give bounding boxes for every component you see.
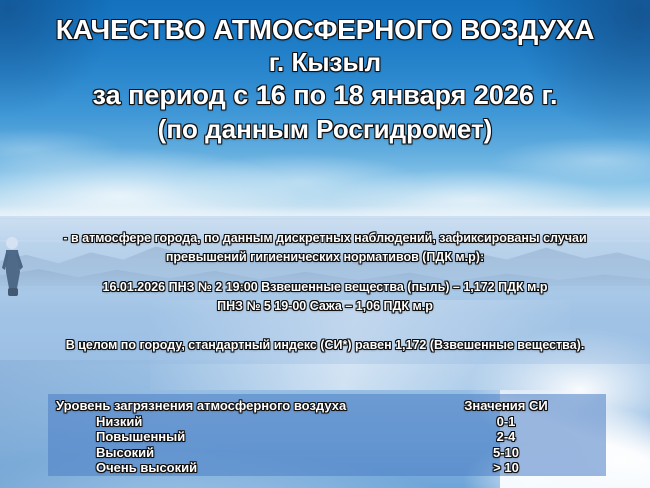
table-row-value-high: 5-10 [422,445,606,461]
table-row-level-high: Высокий [48,445,422,461]
measurement-line-2: ПНЗ № 5 19-00 Сажа – 1,06 ПДК м.р [0,297,650,316]
table-row: Высокий 5-10 [48,445,606,461]
table-header-value: Значения СИ [422,394,606,414]
table-row-level-elevated: Повышенный [48,429,422,445]
poster-title-block: КАЧЕСТВО АТМОСФЕРНОГО ВОЗДУХА г. Кызыл з… [0,0,650,212]
poster-title-line-2-city: г. Кызыл [0,46,650,78]
table-header-level: Уровень загрязнения атмосферного воздуха [48,394,422,414]
text-spacer [0,267,650,278]
table-row-level-very-high: Очень высокий [48,460,422,476]
table-header-row: Уровень загрязнения атмосферного воздуха… [48,394,606,414]
standard-index-summary: В целом по городу, стандартный индекс (С… [0,336,650,354]
table-row: Повышенный 2-4 [48,429,606,445]
table-row-value-elevated: 2-4 [422,429,606,445]
air-quality-poster: КАЧЕСТВО АТМОСФЕРНОГО ВОЗДУХА г. Кызыл з… [0,0,650,488]
table-row-value-low: 0-1 [422,414,606,430]
poster-title-line-1: КАЧЕСТВО АТМОСФЕРНОГО ВОЗДУХА [0,14,650,46]
observations-intro-line-2: превышений гигиенических нормативов (ПДК… [0,248,650,267]
table-row: Очень высокий > 10 [48,460,606,476]
poster-title-line-3-period: за период с 16 по 18 января 2026 г. [0,78,650,112]
measurement-line-1: 16.01.2026 ПНЗ № 2 19:00 Взвешенные веще… [0,278,650,297]
observations-intro-line-1: - в атмосфере города, по данным дискретн… [0,216,650,248]
table-row-level-low: Низкий [48,414,422,430]
table-row-value-very-high: > 10 [422,460,606,476]
pollution-level-table: Уровень загрязнения атмосферного воздуха… [48,394,606,476]
pollution-level-table-panel: Уровень загрязнения атмосферного воздуха… [48,394,606,476]
table-row: Низкий 0-1 [48,414,606,430]
poster-title-line-4-source: (по данным Росгидромет) [0,112,650,146]
